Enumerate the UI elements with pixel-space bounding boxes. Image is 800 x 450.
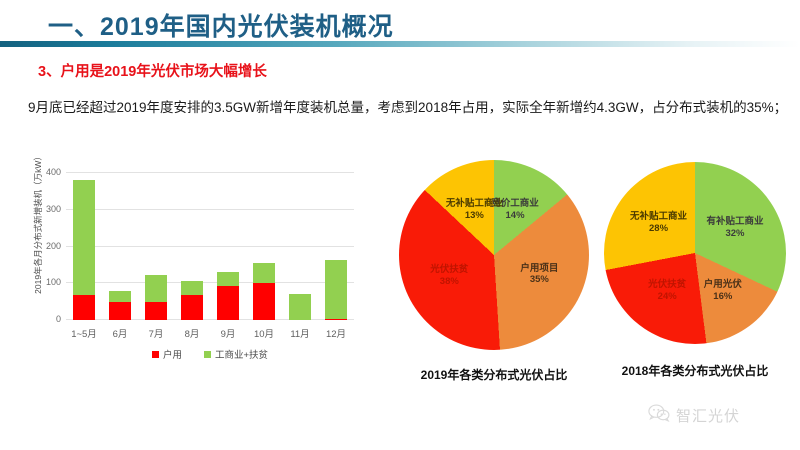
- bar-segment-commercial-poverty: [73, 180, 95, 296]
- bar-stack[interactable]: [325, 260, 347, 320]
- pie-slice-name: 光伏扶贫: [648, 279, 686, 290]
- bar-chart-plot-area: 01002003004001~5月6月7月8月9月10月11月12月: [66, 173, 354, 320]
- bar-segment-household: [217, 286, 239, 320]
- pie-slice-name: 有补贴工商业: [706, 216, 763, 227]
- pie-slice-name: 光伏扶贫: [430, 264, 468, 275]
- bar-chart-y-tick: 200: [46, 241, 61, 251]
- pie-slice-label: 无补贴工商业28%: [630, 211, 687, 235]
- watermark-text: 智汇光伏: [676, 405, 740, 426]
- bar-segment-household: [181, 295, 203, 320]
- pie-slice-label: 户用项目35%: [520, 263, 558, 287]
- pie-slice-label: 无补贴工商业13%: [446, 198, 503, 222]
- section-subheading: 3、户用是2019年光伏市场大幅增长: [38, 60, 267, 81]
- monthly-bar-chart: 2019年各月分布式新增装机（万kW） 01002003004001~5月6月7…: [14, 155, 364, 380]
- pie-slice-name: 无补贴工商业: [630, 211, 687, 222]
- bar-segment-household: [325, 319, 347, 320]
- bar-stack[interactable]: [217, 272, 239, 320]
- page-title: 一、2019年国内光伏装机概况: [48, 7, 394, 43]
- pie-2019-graphic: 竞价工商业14%户用项目35%光伏扶贫38%无补贴工商业13%: [399, 160, 589, 350]
- bar-segment-commercial-poverty: [217, 272, 239, 286]
- pie-slice-percent: 28%: [630, 223, 687, 235]
- bar-segment-commercial-poverty: [289, 294, 311, 320]
- bar-stack[interactable]: [109, 291, 131, 320]
- pie-slice-name: 户用项目: [520, 263, 558, 274]
- pie-slice-percent: 24%: [648, 291, 686, 303]
- bar-stack[interactable]: [253, 263, 275, 320]
- slide-header: 一、2019年国内光伏装机概况: [0, 0, 800, 52]
- bar-chart-y-tick: 100: [46, 277, 61, 287]
- title-divider: [0, 41, 800, 47]
- pie-chart-2019: 竞价工商业14%户用项目35%光伏扶贫38%无补贴工商业13% 2019年各类分…: [386, 160, 602, 350]
- legend-item[interactable]: 工商业+扶贫: [204, 347, 268, 361]
- bar-chart-x-tick: 7月: [138, 326, 174, 340]
- bar-chart-x-tick: 8月: [174, 326, 210, 340]
- bar-group[interactable]: 12月: [318, 173, 354, 320]
- bar-stack[interactable]: [145, 275, 167, 320]
- bar-stack[interactable]: [181, 281, 203, 320]
- bar-group[interactable]: 6月: [102, 173, 138, 320]
- pie-slice-percent: 13%: [446, 210, 503, 222]
- bar-stack[interactable]: [73, 180, 95, 320]
- legend-label: 工商业+扶贫: [215, 347, 268, 361]
- pie-slice-label: 光伏扶贫38%: [430, 264, 468, 288]
- bar-chart-y-tick: 400: [46, 167, 61, 177]
- pie-slice-name: 户用光伏: [704, 279, 742, 290]
- legend-swatch: [152, 351, 159, 358]
- pie-chart-2018: 有补贴工商业32%户用光伏16%光伏扶贫24%无补贴工商业28% 2018年各类…: [590, 162, 800, 344]
- wechat-icon: [648, 404, 670, 427]
- bar-segment-commercial-poverty: [109, 291, 131, 301]
- bar-chart-x-tick: 11月: [282, 326, 318, 340]
- bar-segment-commercial-poverty: [181, 281, 203, 295]
- bar-segment-household: [73, 295, 95, 320]
- bar-group[interactable]: 7月: [138, 173, 174, 320]
- bar-chart-y-axis-label: 2019年各月分布式新增装机（万kW）: [32, 133, 44, 313]
- bar-group[interactable]: 11月: [282, 173, 318, 320]
- bar-segment-commercial-poverty: [145, 275, 167, 301]
- bar-segment-household: [145, 302, 167, 320]
- bar-chart-y-tick: 300: [46, 204, 61, 214]
- body-paragraph: 9月底已经超过2019年度安排的3.5GW新增年度装机总量，考虑到2018年占用…: [28, 96, 787, 116]
- bar-segment-household: [109, 302, 131, 320]
- pie-2019-caption: 2019年各类分布式光伏占比: [386, 366, 602, 383]
- bar-chart-x-tick: 9月: [210, 326, 246, 340]
- bar-stack[interactable]: [289, 294, 311, 320]
- watermark: 智汇光伏: [648, 404, 740, 427]
- pie-slice-percent: 32%: [706, 228, 763, 240]
- bar-group[interactable]: 10月: [246, 173, 282, 320]
- bar-segment-commercial-poverty: [325, 260, 347, 319]
- pie-slice-label: 有补贴工商业32%: [706, 216, 763, 240]
- bar-chart-x-tick: 1~5月: [66, 326, 102, 340]
- legend-label: 户用: [163, 347, 182, 361]
- bar-segment-household: [253, 283, 275, 320]
- bar-chart-x-tick: 6月: [102, 326, 138, 340]
- bar-group[interactable]: 8月: [174, 173, 210, 320]
- bar-group[interactable]: 1~5月: [66, 173, 102, 320]
- pie-slice-percent: 35%: [520, 275, 558, 287]
- pie-slice-label: 光伏扶贫24%: [648, 279, 686, 303]
- bar-group[interactable]: 9月: [210, 173, 246, 320]
- bar-chart-x-tick: 12月: [318, 326, 354, 340]
- bar-chart-y-tick: 0: [56, 314, 61, 324]
- legend-item[interactable]: 户用: [152, 347, 182, 361]
- pie-2018-caption: 2018年各类分布式光伏占比: [590, 362, 800, 379]
- pie-slice-label: 户用光伏16%: [704, 279, 742, 303]
- bar-chart-legend: 户用工商业+扶贫: [66, 347, 354, 361]
- pie-2018-graphic: 有补贴工商业32%户用光伏16%光伏扶贫24%无补贴工商业28%: [604, 162, 786, 344]
- pie-slice-name: 无补贴工商业: [446, 198, 503, 209]
- pie-slice-percent: 38%: [430, 276, 468, 288]
- pie-slice-percent: 16%: [704, 291, 742, 303]
- bar-chart-x-tick: 10月: [246, 326, 282, 340]
- legend-swatch: [204, 351, 211, 358]
- bar-segment-commercial-poverty: [253, 263, 275, 283]
